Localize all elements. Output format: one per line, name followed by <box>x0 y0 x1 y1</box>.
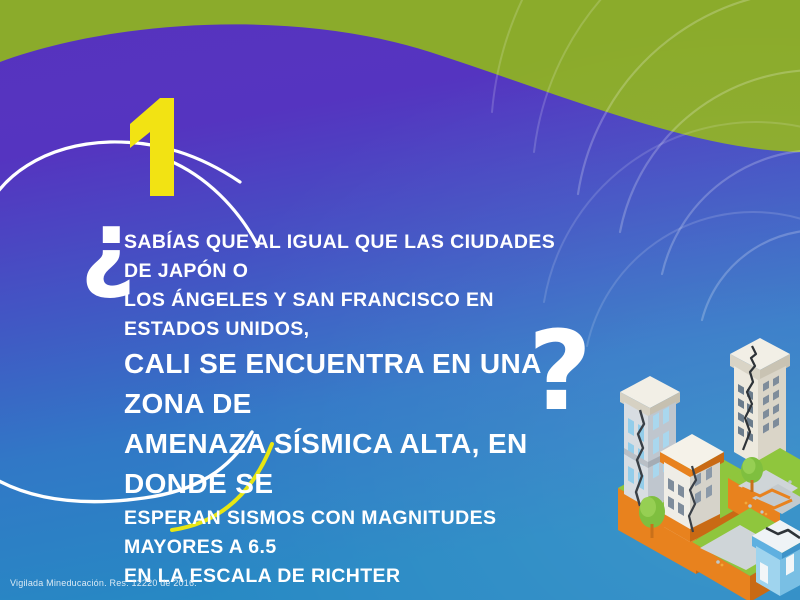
isometric-earthquake-city-illustration <box>600 300 800 600</box>
fact-line-1: SABÍAS QUE AL IGUAL QUE LAS CIUDADES DE … <box>124 228 574 286</box>
question-mark: ? <box>528 316 592 426</box>
cracked-tall-building <box>730 338 790 466</box>
fact-text-block: SABÍAS QUE AL IGUAL QUE LAS CIUDADES DE … <box>124 228 574 591</box>
fact-line-4: AMENAZA SÍSMICA ALTA, EN DONDE SE <box>124 424 574 504</box>
fact-line-2: LOS ÁNGELES Y SAN FRANCISCO EN ESTADOS U… <box>124 286 574 344</box>
slide-canvas: ¿ SABÍAS QUE AL IGUAL QUE LAS CIUDADES D… <box>0 0 800 600</box>
footer-legal-text: Vigilada Mineducación. Res. 12220 de 201… <box>10 578 197 588</box>
fact-line-5: ESPERAN SISMOS CON MAGNITUDES MAYORES A … <box>124 504 574 562</box>
fact-line-3: CALI SE ENCUENTRA EN UNA ZONA DE <box>124 344 574 424</box>
cracked-orange-building <box>660 434 724 542</box>
